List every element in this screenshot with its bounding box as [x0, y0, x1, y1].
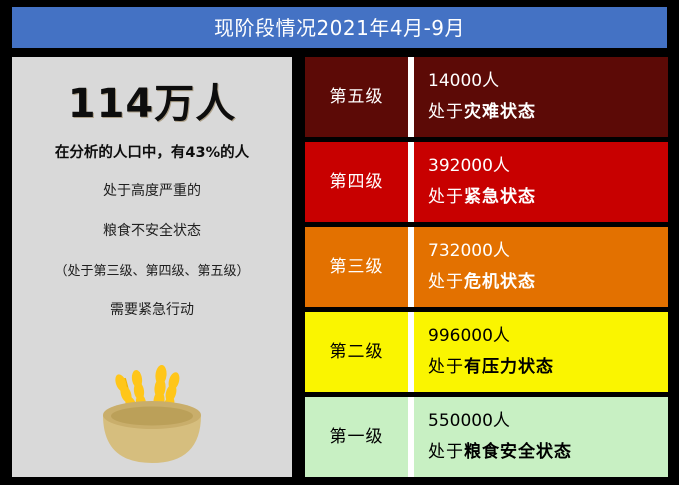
level-label-level-3: 第三级 [330, 258, 384, 277]
page-title-bar: 现阶段情况2021年4月-9月 [12, 7, 667, 48]
page-title: 现阶段情况2021年4月-9月 [214, 18, 465, 38]
severity-row-level-2[interactable]: 第二级996000人处于有压力状态 [305, 312, 668, 392]
summary-line-3: 粮食不安全状态 [103, 220, 201, 240]
level-label-level-1: 第一级 [330, 428, 384, 447]
status-label-level-4: 处于紧急状态 [428, 188, 668, 208]
population-count-level-2: 996000人 [428, 327, 668, 347]
severity-row-level-3[interactable]: 第三级732000人处于危机状态 [305, 227, 668, 307]
summary-headline: 114万人 [68, 83, 237, 125]
infographic-canvas: 现阶段情况2021年4月-9月 114万人 在分析的人口中，有43%的人 处于高… [0, 0, 679, 485]
wheat-bowl-icon [77, 353, 227, 471]
severity-row-level-4[interactable]: 第四级392000人处于紧急状态 [305, 142, 668, 222]
population-count-level-1: 550000人 [428, 412, 668, 432]
population-count-level-3: 732000人 [428, 242, 668, 262]
detail-cell-level-3: 732000人处于危机状态 [414, 227, 668, 307]
status-label-level-1: 处于粮食安全状态 [428, 443, 668, 463]
detail-cell-level-1: 550000人处于粮食安全状态 [414, 397, 668, 477]
level-cell-level-2: 第二级 [305, 312, 408, 392]
detail-cell-level-5: 14000人处于灾难状态 [414, 57, 668, 137]
status-label-level-3: 处于危机状态 [428, 273, 668, 293]
population-count-level-5: 14000人 [428, 72, 668, 92]
detail-cell-level-4: 392000人处于紧急状态 [414, 142, 668, 222]
level-cell-level-3: 第三级 [305, 227, 408, 307]
summary-line-5: 需要紧急行动 [110, 299, 194, 319]
summary-line-1: 在分析的人口中，有43%的人 [55, 141, 249, 162]
level-cell-level-1: 第一级 [305, 397, 408, 477]
level-label-level-4: 第四级 [330, 173, 384, 192]
detail-cell-level-2: 996000人处于有压力状态 [414, 312, 668, 392]
level-label-level-2: 第二级 [330, 343, 384, 362]
summary-panel: 114万人 在分析的人口中，有43%的人 处于高度严重的 粮食不安全状态 （处于… [12, 57, 292, 477]
summary-line-2: 处于高度严重的 [103, 180, 201, 200]
level-label-level-5: 第五级 [330, 88, 384, 107]
severity-levels-list: 第五级14000人处于灾难状态第四级392000人处于紧急状态第三级732000… [305, 57, 668, 477]
summary-line-4: （处于第三级、第四级、第五级） [54, 260, 249, 279]
severity-row-level-5[interactable]: 第五级14000人处于灾难状态 [305, 57, 668, 137]
level-cell-level-4: 第四级 [305, 142, 408, 222]
status-label-level-5: 处于灾难状态 [428, 103, 668, 123]
status-label-level-2: 处于有压力状态 [428, 358, 668, 378]
severity-row-level-1[interactable]: 第一级550000人处于粮食安全状态 [305, 397, 668, 477]
population-count-level-4: 392000人 [428, 157, 668, 177]
level-cell-level-5: 第五级 [305, 57, 408, 137]
